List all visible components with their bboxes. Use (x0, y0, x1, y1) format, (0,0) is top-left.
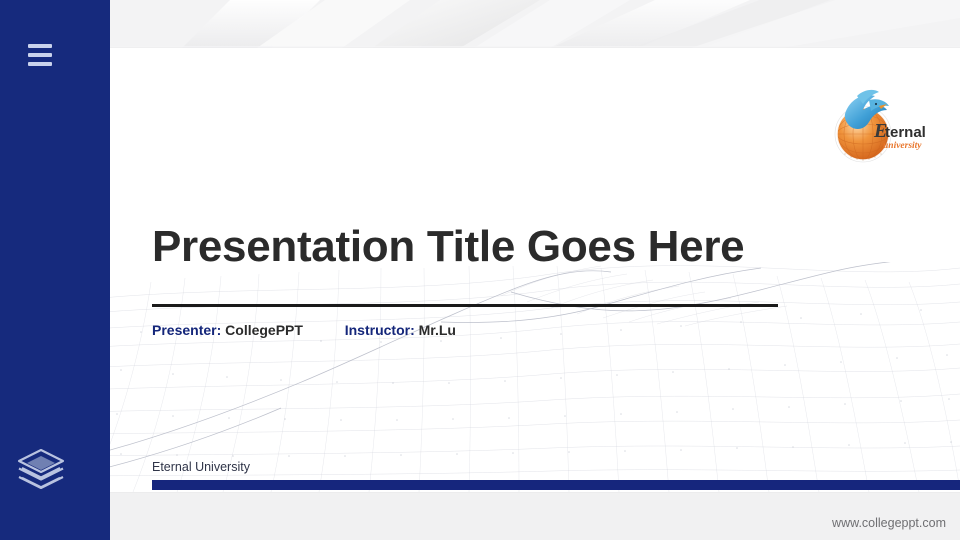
byline: Presenter: CollegePPT Instructor: Mr.Lu (152, 322, 456, 338)
page-title: Presentation Title Goes Here (152, 224, 912, 270)
presenter-label: Presenter: (152, 322, 221, 338)
hamburger-bar-1 (28, 44, 52, 48)
svg-text:ternal: ternal (885, 124, 925, 141)
layers-stack-icon[interactable] (15, 446, 67, 496)
presenter-name: CollegePPT (225, 322, 303, 338)
slide-footer-organization: Eternal University (152, 460, 250, 474)
hamburger-bar-2 (28, 53, 52, 57)
wireframe-terrain-background (81, 262, 960, 492)
hamburger-bar-3 (28, 62, 52, 66)
title-divider (152, 304, 778, 307)
slide-accent-bar (152, 480, 960, 490)
slide-preview-app: E ternal university Presentation Title G… (0, 0, 960, 540)
sidebar (0, 0, 110, 540)
instructor-name: Mr.Lu (419, 322, 456, 338)
hamburger-menu-icon[interactable] (28, 44, 52, 66)
instructor-label: Instructor: (345, 322, 415, 338)
presentation-slide[interactable]: E ternal university Presentation Title G… (81, 48, 960, 492)
site-url: www.collegeppt.com (832, 516, 946, 530)
eternal-university-logo: E ternal university (821, 84, 925, 164)
svg-text:university: university (883, 141, 922, 151)
